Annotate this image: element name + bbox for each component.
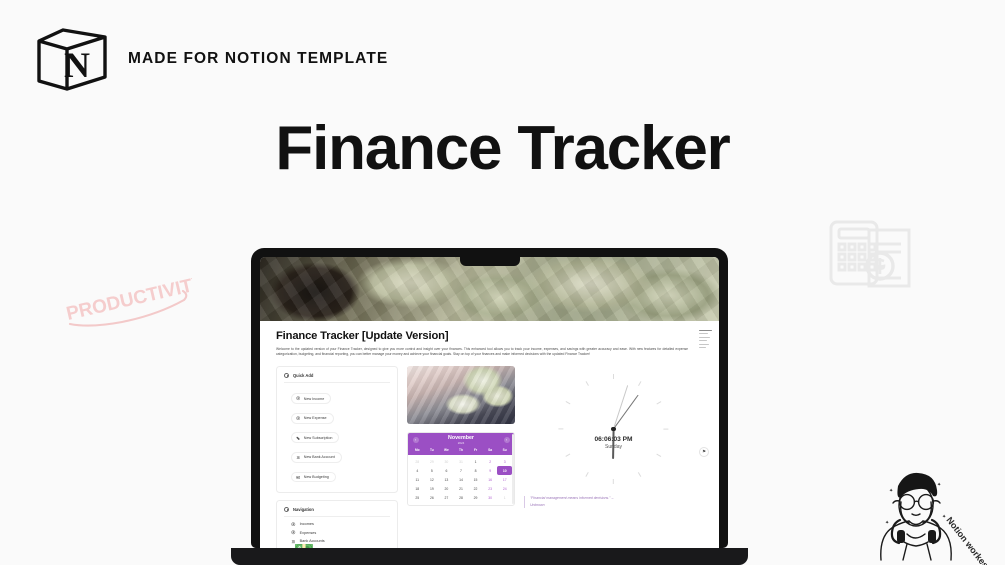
calendar-day[interactable]: 3 <box>497 457 512 466</box>
clock-tick <box>638 381 641 386</box>
clock-day: Sunday <box>555 444 673 450</box>
quote-block: "Financial management means informed dec… <box>524 496 692 508</box>
clock-center-pin <box>611 427 616 432</box>
calendar-day-today[interactable]: 10 <box>497 466 512 475</box>
coin-icon <box>291 530 296 535</box>
calendar-day[interactable]: 5 <box>425 466 440 475</box>
productivity-sticker: PRODUCTIVITY <box>62 278 192 328</box>
calendar-day-header: Th <box>454 448 469 452</box>
calendar-day[interactable]: 23 <box>483 484 498 493</box>
calendar-day[interactable]: 6 <box>439 466 454 475</box>
calendar-day[interactable]: 11 <box>410 475 425 484</box>
calendar-day[interactable]: 2 <box>483 457 498 466</box>
calendar-day[interactable]: 28 <box>454 493 469 502</box>
calendar-day[interactable]: 1 <box>497 493 512 502</box>
notion-page-paragraph: Welcome to the updated version of your F… <box>276 347 688 358</box>
clock-tick <box>559 428 564 429</box>
quick-add-item[interactable]: New Bank Account <box>291 452 342 463</box>
screen-notch <box>460 257 520 266</box>
calendar-day[interactable]: 20 <box>439 484 454 493</box>
notion-cube-logo-icon: N <box>33 25 111 93</box>
svg-text:✦: ✦ <box>889 488 893 494</box>
navigation-item[interactable]: Incomes <box>291 522 390 527</box>
quick-add-item[interactable]: New Income <box>291 393 331 404</box>
calendar-day-header: Mo <box>410 448 425 452</box>
calendar-year: 2024 <box>413 442 509 445</box>
notion-page-title: Finance Tracker [Update Version] <box>276 330 703 342</box>
quick-add-heading-label: Quick Add <box>293 373 313 378</box>
clock-minute-hand <box>613 394 639 429</box>
svg-text:✦: ✦ <box>885 520 889 526</box>
calendar-day[interactable]: 7 <box>454 466 469 475</box>
wallet-icon <box>296 475 300 479</box>
calendar-day[interactable]: 27 <box>439 493 454 502</box>
laptop-screen: 💵 ⚑ Finance Tracker [Update Version] Wel… <box>260 257 719 548</box>
coin-icon <box>291 522 296 527</box>
calendar-day-header: We <box>439 448 454 452</box>
calendar: ‹ November 2024 › MoTuWeThFrSaSu 2829303… <box>407 432 515 507</box>
laptop-base <box>231 548 748 565</box>
table-of-contents-icon <box>699 330 712 350</box>
calendar-scrollbar[interactable] <box>512 434 514 505</box>
bank-icon <box>296 455 300 459</box>
sticker-label: PRODUCTIVITY <box>64 278 192 325</box>
clock-time: 06:06:03 PM <box>555 436 673 443</box>
laptop-mockup: 💵 ⚑ Finance Tracker [Update Version] Wel… <box>251 248 728 565</box>
clock-tick <box>613 479 614 484</box>
clock-tick <box>638 472 641 477</box>
quick-add-item-label: New Expense <box>304 416 327 420</box>
calendar-header: ‹ November 2024 › <box>408 433 514 448</box>
coin-icon <box>296 416 300 420</box>
clock-tick <box>566 401 571 404</box>
page-emoji-icon: 💵 <box>294 543 314 548</box>
quick-add-heading: Quick Add <box>284 373 390 383</box>
gear-icon <box>284 507 289 512</box>
quick-add-item[interactable]: New Subscription <box>291 432 339 443</box>
calendar-day[interactable]: 13 <box>439 475 454 484</box>
clock-tick <box>657 453 662 456</box>
brand-header: N MADE FOR NOTION TEMPLATE <box>33 25 388 93</box>
person-with-headphones-illustration: ✦✦ ✦✦ Notion workes <box>845 462 1005 565</box>
quick-add-item-label: New Budgeting <box>304 475 329 479</box>
calendar-day-headers: MoTuWeThFrSaSu <box>408 448 514 455</box>
laptop-body: 💵 ⚑ Finance Tracker [Update Version] Wel… <box>251 248 728 548</box>
calendar-day[interactable]: 28 <box>410 457 425 466</box>
clock-tick <box>657 401 662 404</box>
quote-text: "Financial management means informed dec… <box>530 496 613 500</box>
navigation-item[interactable]: Expenses <box>291 530 390 535</box>
navigation-heading-label: Navigation <box>293 507 314 512</box>
coin-icon <box>296 396 300 400</box>
column-middle: ‹ November 2024 › MoTuWeThFrSaSu 2829303… <box>407 366 515 507</box>
calendar-day[interactable]: 22 <box>468 484 483 493</box>
quick-add-item-label: New Bank Account <box>304 455 335 459</box>
chevron-right-icon[interactable]: › <box>504 437 510 443</box>
navigation-heading: Navigation <box>284 507 390 517</box>
quote-attribution: Unknown <box>530 503 692 508</box>
quick-add-list: New IncomeNew ExpenseNew SubscriptionNew… <box>284 388 390 486</box>
calendar-day[interactable]: 26 <box>425 493 440 502</box>
clock-second-hand <box>613 385 628 429</box>
clock-tick <box>586 381 589 386</box>
calendar-day[interactable]: 25 <box>410 493 425 502</box>
clock-tick <box>586 472 589 477</box>
calendar-day[interactable]: 1 <box>468 457 483 466</box>
calendar-day[interactable]: 17 <box>497 475 512 484</box>
navigation-item-label: Expenses <box>300 531 317 535</box>
quick-add-item-label: New Subscription <box>304 436 333 440</box>
calendar-day[interactable]: 31 <box>454 457 469 466</box>
clock-tick <box>566 453 571 456</box>
quick-add-card: Quick Add New IncomeNew ExpenseNew Subsc… <box>276 366 398 493</box>
calendar-day[interactable]: 18 <box>410 484 425 493</box>
calendar-day[interactable]: 29 <box>468 493 483 502</box>
column-right: 06:06:03 PM Sunday "Financial management… <box>524 366 703 508</box>
clock-tick <box>664 428 669 429</box>
navigation-card: Navigation IncomesExpensesBank AccountsS… <box>276 500 398 548</box>
calculator-invoice-dollar-icon <box>823 216 915 300</box>
calendar-grid[interactable]: 2829303112345678910111213141516171819202… <box>408 455 514 506</box>
calendar-day[interactable]: 14 <box>454 475 469 484</box>
calendar-day-header: Sa <box>483 448 498 452</box>
calendar-day[interactable]: 12 <box>425 475 440 484</box>
brand-tagline: MADE FOR NOTION TEMPLATE <box>128 50 388 68</box>
notion-page: ⚑ Finance Tracker [Update Version] Welco… <box>260 321 719 548</box>
clock-readout: 06:06:03 PM Sunday <box>555 436 673 451</box>
gear-icon <box>284 373 289 378</box>
notion-columns: Quick Add New IncomeNew ExpenseNew Subsc… <box>276 366 703 548</box>
calendar-day[interactable]: 9 <box>483 466 498 475</box>
calendar-day[interactable]: 29 <box>425 457 440 466</box>
calendar-day-header: Su <box>497 448 512 452</box>
page-title: Finance Tracker <box>0 113 1005 184</box>
poster-root: N MADE FOR NOTION TEMPLATE Finance Track… <box>0 0 1005 565</box>
notion-cover-image <box>260 257 719 321</box>
svg-text:N: N <box>64 45 90 85</box>
calendar-day[interactable]: 24 <box>497 484 512 493</box>
calendar-day[interactable]: 30 <box>439 457 454 466</box>
quick-add-item[interactable]: New Budgeting <box>291 472 336 483</box>
tag-icon <box>296 436 300 440</box>
analog-clock: 06:06:03 PM Sunday <box>555 370 673 488</box>
calendar-day[interactable]: 16 <box>483 475 498 484</box>
quick-add-item[interactable]: New Expense <box>291 413 334 424</box>
calendar-day[interactable]: 30 <box>483 493 498 502</box>
navigation-item-label: Incomes <box>300 522 314 526</box>
money-laptop-photo <box>407 366 515 424</box>
calendar-day[interactable]: 15 <box>468 475 483 484</box>
svg-text:✦: ✦ <box>937 482 941 488</box>
column-left: Quick Add New IncomeNew ExpenseNew Subsc… <box>276 366 398 548</box>
calendar-day[interactable]: 21 <box>454 484 469 493</box>
calendar-day[interactable]: 4 <box>410 466 425 475</box>
calendar-day[interactable]: 8 <box>468 466 483 475</box>
clock-tick <box>613 374 614 379</box>
calendar-day[interactable]: 19 <box>425 484 440 493</box>
quick-add-item-label: New Income <box>304 397 325 401</box>
calendar-day-header: Tu <box>425 448 440 452</box>
calendar-day-header: Fr <box>468 448 483 452</box>
calendar-widget: ‹ November 2024 › MoTuWeThFrSaSu 2829303… <box>407 432 515 507</box>
